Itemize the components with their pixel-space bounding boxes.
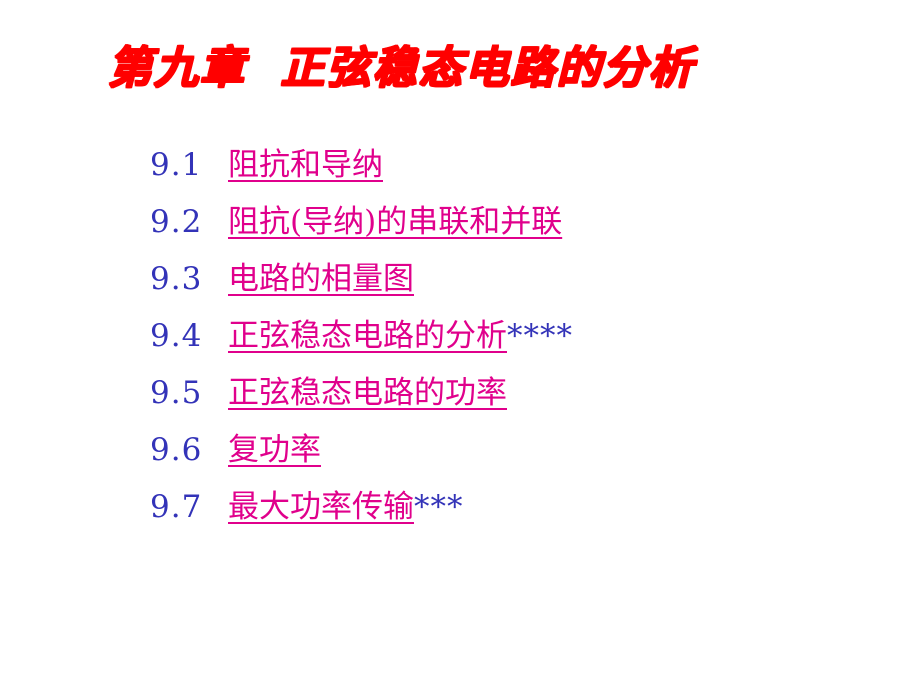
list-item-number: 9.7: [150, 490, 228, 524]
list-item-number: 9.2: [150, 205, 228, 239]
list-item[interactable]: 9.7 最大功率传输 ***: [150, 490, 890, 547]
list-item-label[interactable]: 阻抗和导纳: [228, 148, 383, 182]
list-item-label[interactable]: 电路的相量图: [228, 262, 414, 296]
list-item[interactable]: 9.2 阻抗(导纳)的串联和并联: [150, 205, 890, 262]
page-title: 第九章 正弦稳态电路的分析: [108, 38, 868, 100]
list-item-number: 9.4: [150, 319, 228, 353]
list-item[interactable]: 9.6 复功率: [150, 433, 890, 490]
list-item-stars: ****: [507, 319, 573, 353]
list-item-number: 9.6: [150, 433, 228, 467]
agenda-list: 9.1 阻抗和导纳 9.2 阻抗(导纳)的串联和并联 9.3 电路的相量图 9.…: [150, 148, 890, 547]
list-item[interactable]: 9.3 电路的相量图: [150, 262, 890, 319]
slide-canvas: 第九章 正弦稳态电路的分析 9.1 阻抗和导纳 9.2 阻抗(导纳)的串联和并联…: [0, 0, 920, 690]
list-item-stars: ***: [414, 490, 464, 524]
list-item-label[interactable]: 阻抗(导纳)的串联和并联: [228, 205, 562, 239]
list-item-label[interactable]: 正弦稳态电路的功率: [228, 376, 507, 410]
list-item-label[interactable]: 最大功率传输: [228, 490, 414, 524]
list-item[interactable]: 9.5 正弦稳态电路的功率: [150, 376, 890, 433]
list-item-number: 9.1: [150, 148, 228, 182]
list-item[interactable]: 9.1 阻抗和导纳: [150, 148, 890, 205]
list-item-number: 9.3: [150, 262, 228, 296]
list-item[interactable]: 9.4 正弦稳态电路的分析 ****: [150, 319, 890, 376]
list-item-label[interactable]: 复功率: [228, 433, 321, 467]
list-item-number: 9.5: [150, 376, 228, 410]
list-item-label[interactable]: 正弦稳态电路的分析: [228, 319, 507, 353]
